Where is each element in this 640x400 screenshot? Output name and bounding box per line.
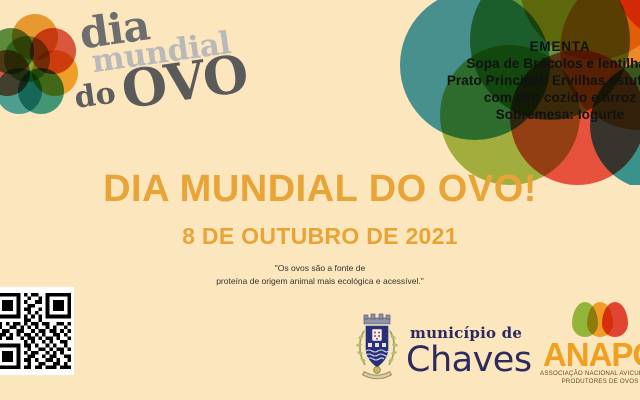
qr-code-matrix (0, 290, 71, 372)
quote-block: "Os ovos são a fonte de proteína de orig… (0, 262, 640, 288)
poster-canvas: EMENTA Sopa de Brócolos e lentilhas Prat… (0, 0, 640, 400)
anapo-logo: ANAPO ASSOCIAÇÃO NACIONAL AVICULTORES PR… (540, 302, 640, 386)
quote-line-1: "Os ovos são a fonte de (0, 262, 640, 275)
anapo-subtitle-line-1: ASSOCIAÇÃO NACIONAL AVICULTORES (540, 370, 640, 378)
crest-drawing (354, 313, 400, 381)
chaves-coat-of-arms-icon (354, 313, 400, 381)
menu-line-soup: Sopa de Brócolos e lentilhas (430, 55, 640, 72)
petal-8 (4, 36, 50, 82)
menu-line-dessert: Sobremesa: Iogurte (430, 106, 640, 123)
anapo-wordmark: ANAPO (540, 339, 640, 370)
event-date: 8 DE OUTUBRO DE 2021 (0, 223, 640, 250)
logo-word-do: do (72, 76, 117, 116)
chaves-name: Chaves (406, 343, 532, 377)
event-logo-wordmark: dia mundial do OVO (62, 0, 337, 132)
municipio-de-chaves-logo: município de Chaves (406, 324, 532, 377)
quote-line-2: proteína de origem animal mais ecológica… (0, 275, 640, 288)
menu-line-main: Prato Principal: Ervilhas estufadas (430, 72, 640, 89)
circle-coral (615, 0, 640, 40)
menu-heading: EMENTA (430, 38, 640, 55)
menu-line-main-2: com ovo cozido e arroz (430, 89, 640, 106)
anapo-subtitle-line-2: PRODUTORES DE OVOS (540, 378, 640, 386)
three-eggs-icon (572, 302, 628, 338)
menu-panel: EMENTA Sopa de Brócolos e lentilhas Prat… (430, 38, 640, 123)
anapo-subtitle: ASSOCIAÇÃO NACIONAL AVICULTORES PRODUTOR… (540, 370, 640, 386)
qr-code-icon[interactable] (0, 287, 74, 375)
egg-red (602, 302, 628, 337)
page-title: DIA MUNDIAL DO OVO! (0, 168, 640, 211)
